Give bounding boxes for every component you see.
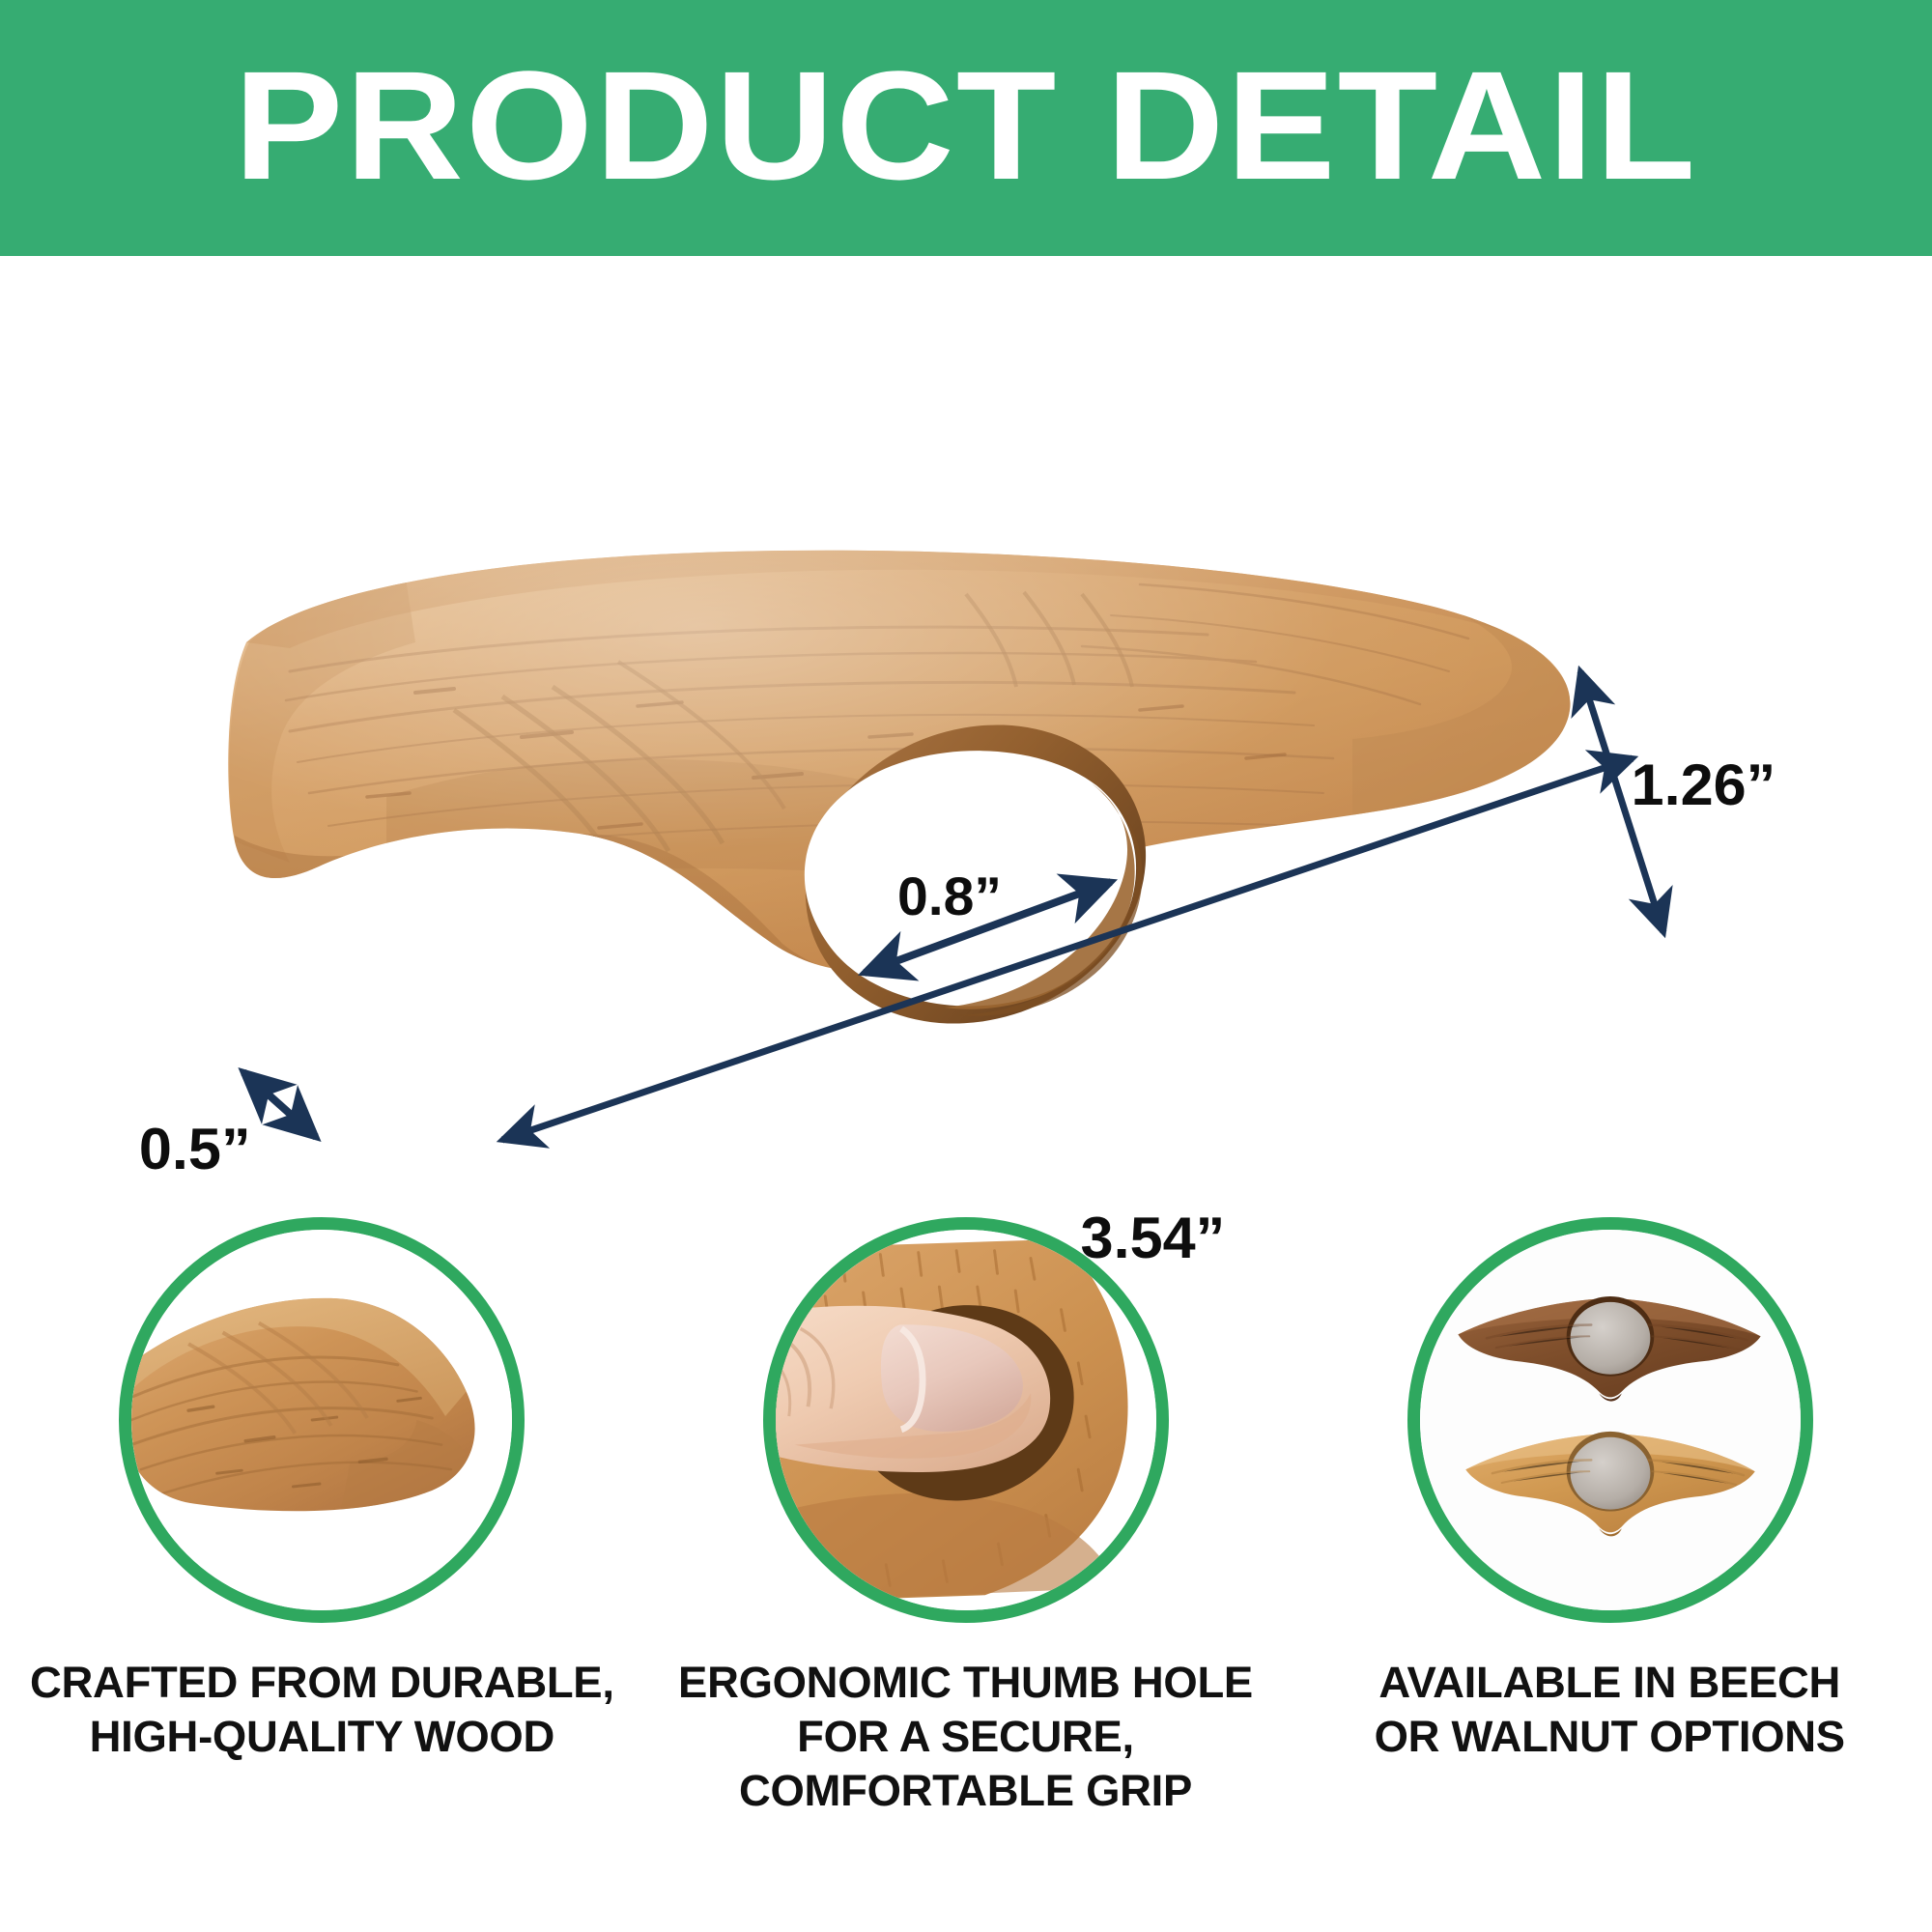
feature-caption-thumb-hole: ERGONOMIC THUMB HOLE FOR A SECURE, COMFO… bbox=[679, 1656, 1254, 1817]
beech-and-walnut-options-image bbox=[1420, 1230, 1801, 1610]
dimension-annotations bbox=[0, 256, 1932, 1217]
feature-item-material: CRAFTED FROM DURABLE, HIGH-QUALITY WOOD bbox=[0, 1217, 644, 1932]
wood-edge-closeup-image bbox=[131, 1230, 512, 1610]
feature-item-wood-options: AVAILABLE IN BEECH OR WALNUT OPTIONS bbox=[1288, 1217, 1932, 1932]
feature-caption-wood-options: AVAILABLE IN BEECH OR WALNUT OPTIONS bbox=[1375, 1656, 1845, 1764]
feature-row: CRAFTED FROM DURABLE, HIGH-QUALITY WOOD bbox=[0, 1217, 1932, 1932]
caption-line: HIGH-QUALITY WOOD bbox=[30, 1710, 614, 1764]
caption-line: ERGONOMIC THUMB HOLE bbox=[679, 1656, 1254, 1710]
hero-product-section: 1.26” 0.8” 0.5” 3.54” bbox=[0, 256, 1932, 1217]
dimension-line-length bbox=[502, 758, 1633, 1140]
dimension-line-depth bbox=[243, 1072, 316, 1137]
dimension-label-depth: 0.5” bbox=[139, 1116, 251, 1182]
feature-circle-material bbox=[119, 1217, 525, 1623]
feature-item-thumb-hole: ERGONOMIC THUMB HOLE FOR A SECURE, COMFO… bbox=[644, 1217, 1289, 1932]
caption-line: FOR A SECURE, bbox=[679, 1710, 1254, 1764]
thumb-in-hole-image bbox=[776, 1230, 1156, 1610]
caption-line: COMFORTABLE GRIP bbox=[679, 1764, 1254, 1818]
page-title: PRODUCT DETAIL bbox=[234, 48, 1697, 203]
feature-circle-thumb-hole bbox=[763, 1217, 1169, 1623]
feature-caption-material: CRAFTED FROM DURABLE, HIGH-QUALITY WOOD bbox=[30, 1656, 614, 1764]
header-banner: PRODUCT DETAIL bbox=[0, 0, 1932, 256]
dimension-label-height: 1.26” bbox=[1632, 752, 1776, 818]
caption-line: AVAILABLE IN BEECH bbox=[1375, 1656, 1845, 1710]
dimension-label-thumb-hole: 0.8” bbox=[897, 865, 1002, 927]
caption-line: CRAFTED FROM DURABLE, bbox=[30, 1656, 614, 1710]
caption-line: OR WALNUT OPTIONS bbox=[1375, 1710, 1845, 1764]
feature-circle-wood-options bbox=[1407, 1217, 1813, 1623]
